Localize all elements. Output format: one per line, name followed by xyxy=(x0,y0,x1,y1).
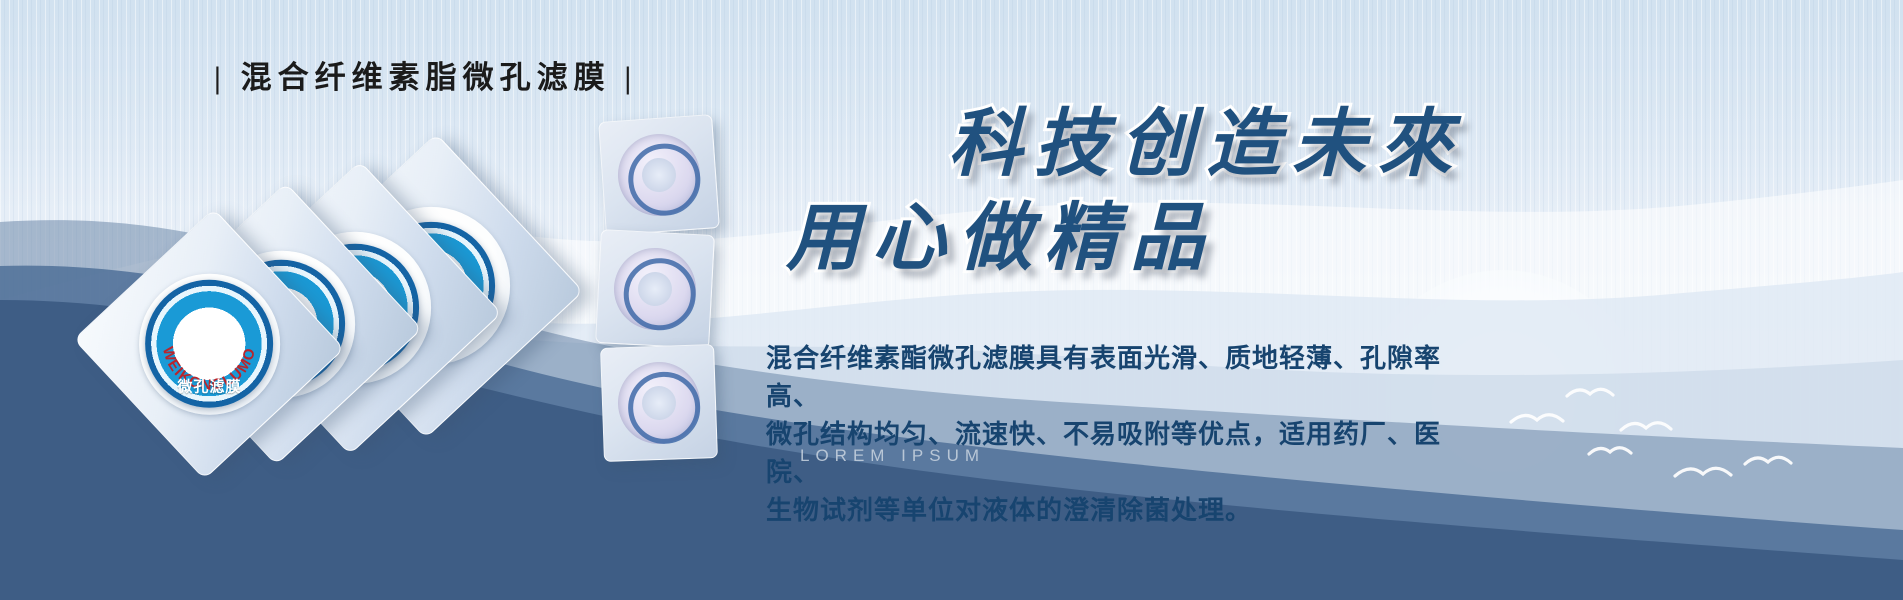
description-line: 生物试剂等单位对液体的澄清除菌处理。 xyxy=(766,492,1466,530)
membrane-disc: WEIKONGLUMO 微孔滤膜 xyxy=(139,274,280,415)
headline-line-2-text: 用心做精品 xyxy=(786,198,1216,280)
description-line: 混合纤维素酯微孔滤膜具有表面光滑、质地轻薄、孔隙率高、 xyxy=(766,340,1466,416)
logo-mark-icon xyxy=(188,321,230,357)
promo-banner: WEIKONGLUMO 微孔滤膜 WEIKONGLUMO xyxy=(0,0,1903,600)
headline-line-1-text: 科技创造未來 xyxy=(948,104,1464,186)
label-cn-text: 微孔滤膜 xyxy=(145,376,273,397)
birds-decoration xyxy=(1493,380,1823,510)
brand-label: WEIKONGLUMO 微孔滤膜 xyxy=(145,280,273,408)
birds-icon xyxy=(1493,380,1823,510)
membrane-box xyxy=(598,114,720,236)
headline-line-2: 用心做精品 xyxy=(786,178,1216,285)
headline-line-1: 科技创造未來 xyxy=(948,84,1464,191)
membrane-box-stack xyxy=(592,118,732,458)
watermark-text: LOREM IPSUM xyxy=(800,446,985,466)
product-title: | 混合纤维素脂微孔滤膜 | xyxy=(214,52,637,97)
product-stack: WEIKONGLUMO 微孔滤膜 WEIKONGLUMO xyxy=(105,120,575,520)
membrane-box xyxy=(600,344,718,462)
description-paragraph: 混合纤维素酯微孔滤膜具有表面光滑、质地轻薄、孔隙率高、 微孔结构均匀、流速快、不… xyxy=(766,340,1466,530)
membrane-box xyxy=(595,229,715,349)
